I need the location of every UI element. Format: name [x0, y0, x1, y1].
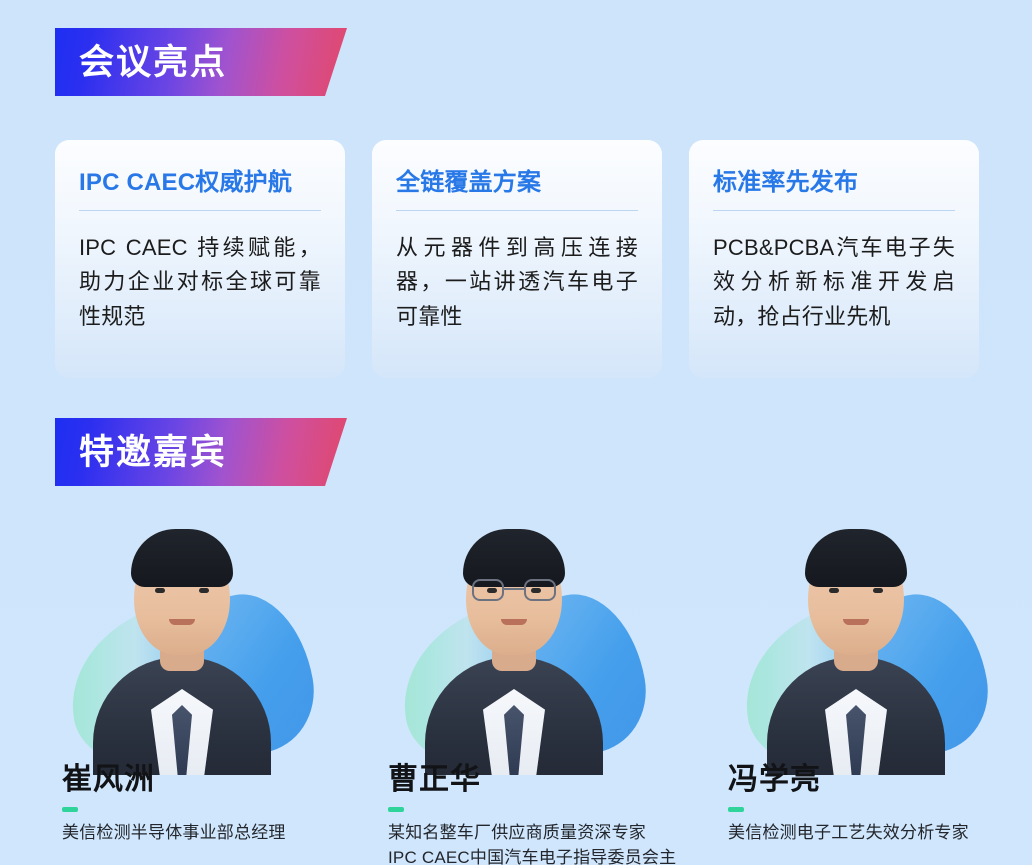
highlight-card-title: IPC CAEC权威护航: [79, 170, 321, 196]
speaker-name: 曹正华: [388, 763, 688, 796]
speaker-portrait: [342, 505, 686, 775]
portrait-mouth: [169, 619, 195, 625]
speaker-info: 曹正华 某知名整车厂供应商质量资深专家 IPC CAEC中国汽车电子指导委员会主…: [344, 763, 688, 865]
speaker-title: 某知名整车厂供应商质量资深专家 IPC CAEC中国汽车电子指导委员会主席: [388, 821, 688, 865]
section-banner-guests-label: 特邀嘉宾: [79, 435, 227, 470]
speakers-row: 崔风洲 美信检测半导体事业部总经理: [0, 505, 1032, 865]
speaker-name-accent-dash: [388, 807, 404, 812]
poster-page: 会议亮点 IPC CAEC权威护航 IPC CAEC 持续赋能，助力企业对标全球…: [0, 0, 1032, 865]
speaker-card[interactable]: 崔风洲 美信检测半导体事业部总经理: [0, 505, 344, 865]
highlight-card[interactable]: 标准率先发布 PCB&PCBA汽车电子失效分析新标准开发启动，抢占行业先机: [689, 140, 979, 378]
portrait-glasses: [472, 579, 556, 603]
section-banner-highlights-label: 会议亮点: [79, 45, 227, 80]
speaker-name: 冯学亮: [728, 763, 1032, 796]
portrait-hair: [131, 529, 233, 587]
portrait-eye-right: [199, 588, 209, 593]
portrait-hair: [805, 529, 907, 587]
highlight-card-divider: [396, 210, 638, 211]
portrait-mouth: [501, 619, 527, 625]
speaker-card[interactable]: 冯学亮 美信检测电子工艺失效分析专家: [688, 505, 1032, 865]
portrait-eye-left: [155, 588, 165, 593]
highlight-card-body: 从元器件到高压连接器，一站讲透汽车电子可靠性: [396, 231, 638, 333]
portrait-figure: [416, 523, 612, 775]
speaker-portrait: [684, 505, 1028, 775]
speaker-card[interactable]: 曹正华 某知名整车厂供应商质量资深专家 IPC CAEC中国汽车电子指导委员会主…: [344, 505, 688, 865]
portrait-figure: [84, 523, 280, 775]
highlight-card-divider: [713, 210, 955, 211]
portrait-eye-right: [873, 588, 883, 593]
section-banner-highlights: 会议亮点: [55, 28, 347, 96]
highlight-cards-row: IPC CAEC权威护航 IPC CAEC 持续赋能，助力企业对标全球可靠性规范…: [55, 140, 979, 378]
portrait-figure: [758, 523, 954, 775]
highlight-card-body: PCB&PCBA汽车电子失效分析新标准开发启动，抢占行业先机: [713, 231, 955, 333]
speaker-info: 冯学亮 美信检测电子工艺失效分析专家: [688, 763, 1032, 846]
section-banner-guests: 特邀嘉宾: [55, 418, 347, 486]
speaker-name-accent-dash: [728, 807, 744, 812]
speaker-title: 美信检测半导体事业部总经理: [62, 821, 344, 846]
highlight-card-body: IPC CAEC 持续赋能，助力企业对标全球可靠性规范: [79, 231, 321, 333]
portrait-eye-left: [829, 588, 839, 593]
highlight-card-title: 标准率先发布: [713, 170, 955, 196]
speaker-title: 美信检测电子工艺失效分析专家: [728, 821, 1032, 846]
speaker-portrait: [10, 505, 354, 775]
speaker-name-accent-dash: [62, 807, 78, 812]
highlight-card-divider: [79, 210, 321, 211]
speaker-info: 崔风洲 美信检测半导体事业部总经理: [0, 763, 344, 846]
portrait-mouth: [843, 619, 869, 625]
speaker-name: 崔风洲: [62, 763, 344, 796]
highlight-card-title: 全链覆盖方案: [396, 170, 638, 196]
highlight-card[interactable]: 全链覆盖方案 从元器件到高压连接器，一站讲透汽车电子可靠性: [372, 140, 662, 378]
highlight-card[interactable]: IPC CAEC权威护航 IPC CAEC 持续赋能，助力企业对标全球可靠性规范: [55, 140, 345, 378]
